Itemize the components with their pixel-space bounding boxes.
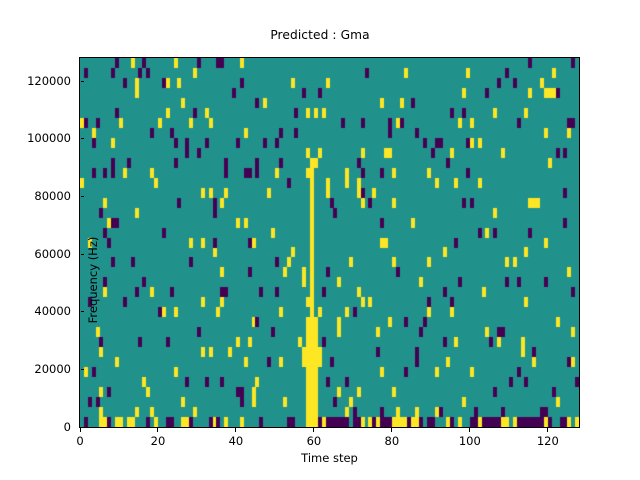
y-tick-label: 40000 [34, 304, 71, 318]
x-tick-label: 120 [528, 434, 568, 448]
y-tick-mark [81, 81, 85, 82]
y-tick-mark [81, 311, 85, 312]
y-tick-mark [81, 196, 85, 197]
y-tick-mark [81, 138, 85, 139]
x-tick-label: 100 [450, 434, 490, 448]
x-tick-mark [157, 428, 158, 432]
x-tick-label: 80 [372, 434, 412, 448]
x-tick-mark [469, 428, 470, 432]
y-tick-label: 80000 [34, 189, 71, 203]
y-tick-mark [81, 427, 85, 428]
x-tick-mark [235, 428, 236, 432]
y-axis-label: Frequency (Hz) [86, 145, 100, 415]
y-tick-label: 0 [64, 420, 71, 434]
x-tick-label: 0 [60, 434, 100, 448]
x-tick-mark [547, 428, 548, 432]
heatmap-axes: Frequency (Hz) Time step 020000400006000… [79, 57, 580, 428]
page-title: Predicted : Gma [0, 28, 640, 42]
y-tick-label: 20000 [34, 362, 71, 376]
matplotlib-figure: Predicted : Gma Frequency (Hz) Time step… [0, 0, 640, 480]
x-tick-label: 40 [216, 434, 256, 448]
y-tick-mark [81, 369, 85, 370]
x-tick-mark [80, 428, 81, 432]
heatmap-image [80, 58, 579, 427]
x-tick-label: 20 [138, 434, 178, 448]
y-tick-label: 100000 [27, 131, 71, 145]
x-tick-mark [313, 428, 314, 432]
y-tick-label: 60000 [34, 247, 71, 261]
x-axis-label: Time step [80, 451, 579, 465]
y-tick-mark [81, 254, 85, 255]
x-tick-mark [391, 428, 392, 432]
y-tick-label: 120000 [27, 74, 71, 88]
x-tick-label: 60 [294, 434, 334, 448]
